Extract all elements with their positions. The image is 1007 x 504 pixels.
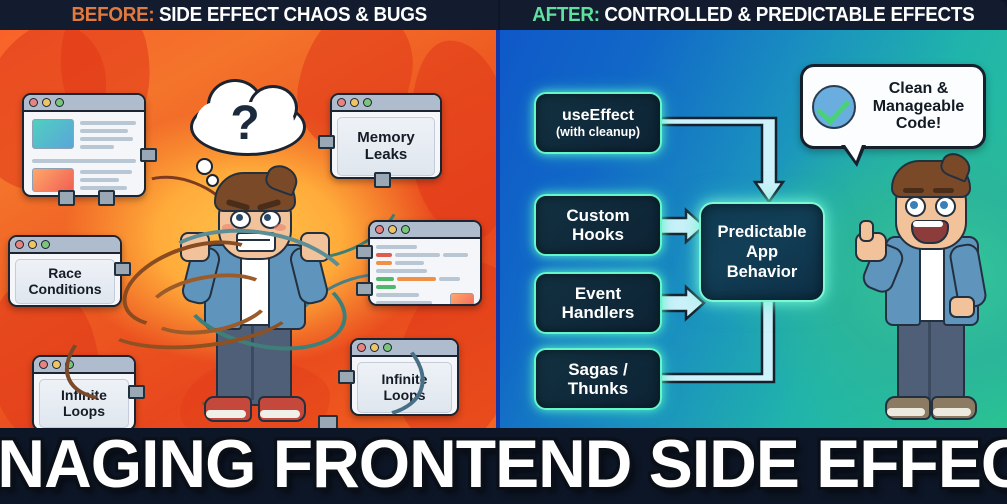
- memory-leaks-window: MemoryLeaks: [330, 93, 442, 179]
- maximize-dot-icon: [41, 240, 50, 249]
- node-custom-hooks[interactable]: Custom Hooks: [534, 194, 662, 256]
- code-window-right: [368, 220, 482, 306]
- question-mark-icon: ?: [184, 96, 306, 151]
- hub-line2: App: [746, 243, 778, 261]
- speech-bubble-text: Clean & Manageable Code!: [863, 80, 974, 133]
- node-useeffect-line1: useEffect: [562, 107, 634, 124]
- speech-line2: Manageable: [873, 98, 965, 115]
- thought-dot-large: [196, 158, 213, 175]
- hub-line3: Behavior: [727, 263, 798, 281]
- node-event-handlers-line2: Handlers: [562, 303, 635, 322]
- speech-bubble-tail: [841, 145, 866, 167]
- header-after: AFTER:CONTROLLED & PREDICTABLE EFFECTS: [500, 0, 1007, 30]
- plug-icon: [58, 190, 75, 206]
- hub-line1: Predictable: [718, 223, 807, 241]
- minimize-dot-icon: [42, 98, 51, 107]
- plug-icon: [114, 262, 131, 276]
- thought-dot-small: [206, 174, 219, 187]
- header-after-keyword: AFTER:: [532, 3, 599, 26]
- window-titlebar: [370, 222, 480, 239]
- header-after-text: CONTROLLED & PREDICTABLE EFFECTS: [604, 3, 974, 26]
- window-body: [370, 239, 480, 306]
- plug-icon: [140, 148, 157, 162]
- plug-icon: [356, 245, 373, 259]
- minimize-dot-icon: [52, 360, 61, 369]
- node-sagas-thunks[interactable]: Sagas / Thunks: [534, 348, 662, 410]
- person-shoe-left: [204, 396, 252, 422]
- bottom-banner: MANAGING FRONTEND SIDE EFFECTS: [0, 424, 1007, 504]
- plug-icon: [356, 282, 373, 296]
- close-dot-icon: [29, 98, 38, 107]
- thumbnail-teal: [32, 119, 74, 149]
- memory-leaks-label: MemoryLeaks: [357, 118, 415, 175]
- thumbnail-orange: [32, 168, 74, 192]
- race-conditions-label: RaceConditions: [28, 260, 101, 303]
- plug-icon: [374, 172, 391, 188]
- node-sagas-thunks-line2: Thunks: [568, 379, 628, 398]
- node-useeffect-line2: (with cleanup): [556, 125, 640, 139]
- code-window-top-left: [22, 93, 146, 197]
- window-body: RaceConditions: [15, 259, 115, 304]
- minimize-dot-icon: [28, 240, 37, 249]
- window-titlebar: [332, 95, 440, 112]
- header-before-text: SIDE EFFECT CHAOS & BUGS: [159, 3, 427, 26]
- speech-line3: Code!: [896, 115, 941, 132]
- plug-icon: [318, 135, 335, 149]
- check-circle-icon: [812, 85, 856, 129]
- window-titlebar: [10, 237, 120, 254]
- window-titlebar: [24, 95, 144, 112]
- hub-predictable-app-behavior[interactable]: Predictable App Behavior: [699, 202, 825, 302]
- maximize-dot-icon: [401, 225, 410, 234]
- node-custom-hooks-line1: Custom: [566, 206, 629, 225]
- close-dot-icon: [15, 240, 24, 249]
- thumb-icon: [859, 220, 874, 242]
- thought-bubble: ?: [184, 82, 306, 160]
- person-hand-hip: [949, 296, 975, 318]
- speech-line1: Clean &: [889, 80, 949, 97]
- close-dot-icon: [375, 225, 384, 234]
- close-dot-icon: [337, 98, 346, 107]
- header-before-keyword: BEFORE:: [71, 3, 154, 26]
- header-before: BEFORE:SIDE EFFECT CHAOS & BUGS: [0, 0, 498, 30]
- minimize-dot-icon: [350, 98, 359, 107]
- close-dot-icon: [39, 360, 48, 369]
- race-conditions-window: RaceConditions: [8, 235, 122, 307]
- infographic-canvas: BEFORE:SIDE EFFECT CHAOS & BUGS AFTER:CO…: [0, 0, 1007, 504]
- thumbnail-orange: [450, 293, 474, 306]
- banner-title: MANAGING FRONTEND SIDE EFFECTS: [0, 425, 1007, 503]
- after-panel: useEffect (with cleanup) Custom Hooks Ev…: [500, 30, 1007, 428]
- node-custom-hooks-line2: Hooks: [572, 225, 624, 244]
- window-body: MemoryLeaks: [337, 117, 435, 176]
- maximize-dot-icon: [55, 98, 64, 107]
- node-sagas-thunks-line1: Sagas /: [568, 360, 628, 379]
- happy-developer: [855, 140, 995, 428]
- plug-icon: [98, 190, 115, 206]
- node-event-handlers-line1: Event: [575, 284, 621, 303]
- maximize-dot-icon: [363, 98, 372, 107]
- minimize-dot-icon: [388, 225, 397, 234]
- speech-bubble-clean-code: Clean & Manageable Code!: [800, 64, 986, 149]
- node-useeffect[interactable]: useEffect (with cleanup): [534, 92, 662, 154]
- window-body: [24, 112, 144, 197]
- node-event-handlers[interactable]: Event Handlers: [534, 272, 662, 334]
- before-panel: MemoryLeaks RaceConditions: [0, 30, 498, 428]
